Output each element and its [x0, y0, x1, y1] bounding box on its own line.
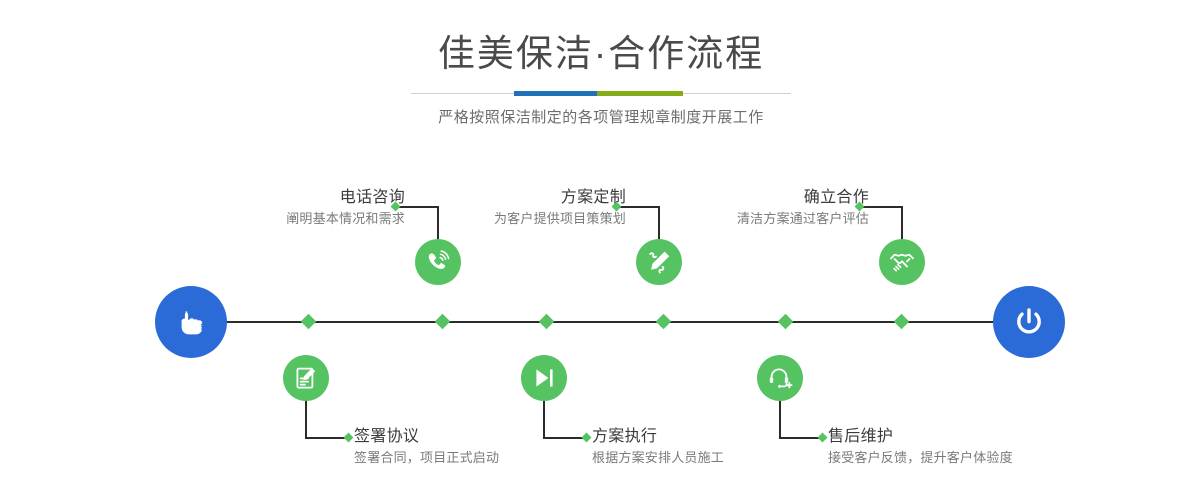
- timeline-marker-5: [778, 314, 794, 330]
- play-execute-icon: [530, 364, 558, 392]
- step-desc-5: 清洁方案通过客户评估: [649, 211, 869, 228]
- step-desc-3: 为客户提供项目策策划: [406, 211, 626, 228]
- process-flow-infographic: 佳美保洁·合作流程 严格按照保洁制定的各项管理规章制度开展工作: [0, 0, 1202, 502]
- step-desc-6: 接受客户反馈，提升客户体验度: [828, 450, 1108, 467]
- timeline-marker-3: [539, 314, 555, 330]
- step-label-4: 方案执行 根据方案安排人员施工: [592, 427, 832, 467]
- step-title-4: 方案执行: [592, 427, 832, 447]
- step-icon-1: [415, 239, 461, 285]
- step-desc-2: 签署合同，项目正式启动: [354, 450, 594, 467]
- timeline-marker-2: [435, 314, 451, 330]
- handshake-icon: [888, 248, 916, 276]
- power-button-icon: [1009, 302, 1049, 342]
- step-icon-5: [879, 239, 925, 285]
- phone-call-icon: [424, 248, 452, 276]
- step-icon-3: [636, 239, 682, 285]
- step-title-3: 方案定制: [406, 188, 626, 208]
- timeline-marker-4: [656, 314, 672, 330]
- step-title-2: 签署协议: [354, 427, 594, 447]
- step-icon-6: [757, 355, 803, 401]
- step-icon-4: [521, 355, 567, 401]
- timeline-end-endpoint: [993, 286, 1065, 358]
- pointing-hand-icon: [171, 302, 211, 342]
- step-desc-1: 阐明基本情况和需求: [185, 211, 405, 228]
- step-label-6: 售后维护 接受客户反馈，提升客户体验度: [828, 427, 1108, 467]
- connector-horizontal-2: [305, 437, 348, 439]
- step-label-5: 确立合作 清洁方案通过客户评估: [649, 188, 869, 228]
- connector-tick-2: [344, 433, 354, 443]
- step-icon-2: [283, 355, 329, 401]
- step-label-3: 方案定制 为客户提供项目策策划: [406, 188, 626, 228]
- step-title-6: 售后维护: [828, 427, 1108, 447]
- timeline-marker-1: [301, 314, 317, 330]
- step-label-1: 电话咨询 阐明基本情况和需求: [185, 188, 405, 228]
- pencil-design-icon: [645, 248, 673, 276]
- step-desc-4: 根据方案安排人员施工: [592, 450, 832, 467]
- document-pencil-icon: [292, 364, 320, 392]
- timeline-marker-6: [894, 314, 910, 330]
- timeline: 电话咨询 阐明基本情况和需求 签署协议 签署合同，项目正式启动: [0, 0, 1202, 502]
- timeline-start-endpoint: [155, 286, 227, 358]
- step-label-2: 签署协议 签署合同，项目正式启动: [354, 427, 594, 467]
- step-title-5: 确立合作: [649, 188, 869, 208]
- customer-support-icon: [766, 364, 794, 392]
- step-title-1: 电话咨询: [185, 188, 405, 208]
